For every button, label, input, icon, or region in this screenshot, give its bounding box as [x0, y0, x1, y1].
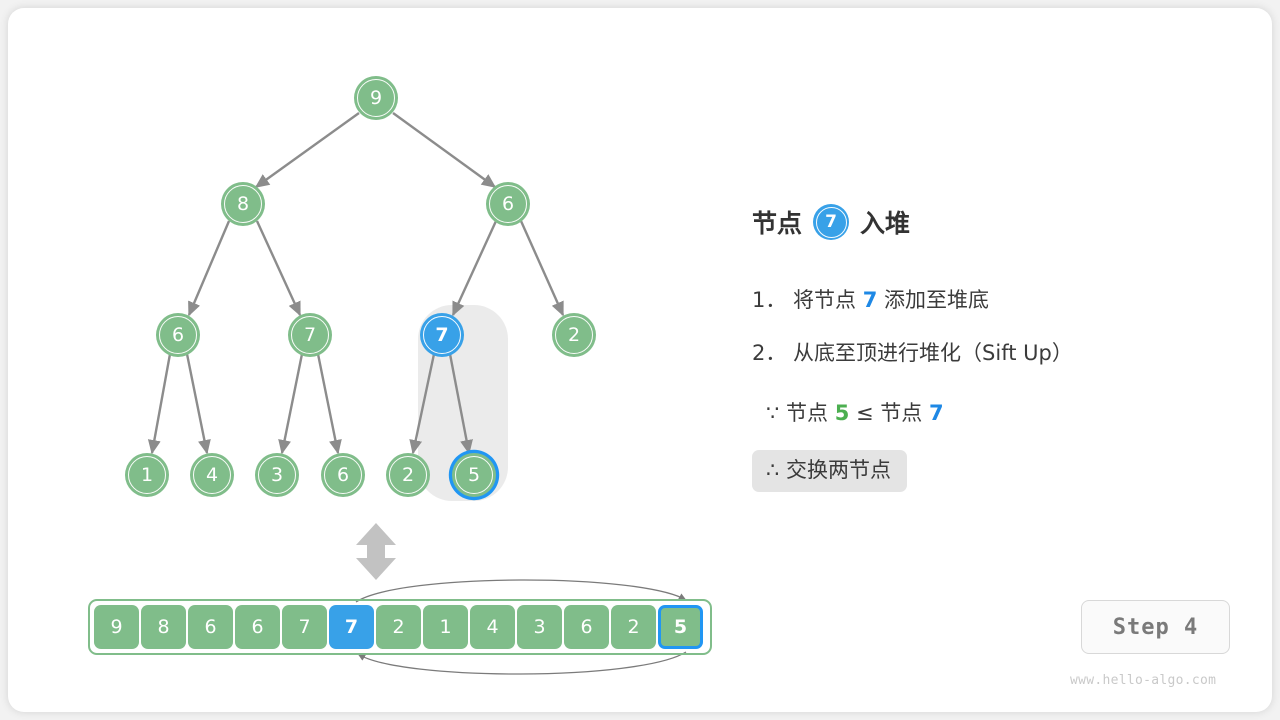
tree-node-l1-right[interactable]: 6: [486, 182, 530, 226]
step-1-after: 添加至堆底: [877, 288, 989, 312]
tree-node-l3-c[interactable]: 3: [255, 453, 299, 497]
array-cell[interactable]: 2: [611, 605, 656, 649]
panel-title: 节点 7 入堆: [752, 200, 1222, 244]
tree-node-l3-b[interactable]: 4: [190, 453, 234, 497]
step-badge-label: Step 4: [1113, 615, 1198, 640]
node-value: 9: [370, 89, 382, 108]
reason-right-value: 7: [929, 401, 944, 425]
step-2-text: 2． 从底至顶进行堆化（Sift Up）: [752, 343, 1073, 364]
array-cell[interactable]: 1: [423, 605, 468, 649]
array-cell[interactable]: 6: [235, 605, 280, 649]
panel-title-prefix: 节点: [752, 204, 802, 240]
step-1-before: 1． 将节点: [752, 288, 863, 312]
conclusion-text: ∴ 交换两节点: [766, 460, 891, 481]
tree-node-l3-d[interactable]: 6: [321, 453, 365, 497]
node-value: 7: [304, 326, 316, 345]
node-value: 6: [337, 466, 349, 485]
tree-node-l3-a[interactable]: 1: [125, 453, 169, 497]
array-cell[interactable]: 9: [94, 605, 139, 649]
explanation-panel: 节点 7 入堆 1． 将节点 7 添加至堆底 2． 从底至顶进行堆化（Sift …: [752, 200, 1222, 244]
tree-node-l2-d[interactable]: 2: [552, 313, 596, 357]
reason-middle: ≤ 节点: [849, 401, 929, 425]
array-representation: 9 8 6 6 7 7 2 1 4 3 6 2 5: [88, 599, 712, 655]
illustration-canvas: 9 8 6 6 7 7 2 1 4 3 6 2: [0, 0, 1280, 720]
tree-node-l3-e[interactable]: 2: [386, 453, 430, 497]
node-value: 6: [172, 326, 184, 345]
array-cell-swap-target[interactable]: 5: [658, 605, 703, 649]
node-value: 7: [435, 326, 448, 345]
reason-left-value: 5: [835, 401, 850, 425]
array-cell[interactable]: 3: [517, 605, 562, 649]
watermark: www.hello-algo.com: [1070, 673, 1216, 688]
node-value: 5: [468, 466, 480, 485]
step-1-text: 1． 将节点 7 添加至堆底: [752, 290, 989, 311]
array-cell-inserted[interactable]: 7: [329, 605, 374, 649]
node-value: 8: [237, 195, 249, 214]
conclusion-highlight: ∴ 交换两节点: [752, 450, 907, 492]
array-cell[interactable]: 6: [564, 605, 609, 649]
tree-node-l2-b[interactable]: 7: [288, 313, 332, 357]
panel-title-suffix: 入堆: [860, 204, 910, 240]
tree-node-inserted[interactable]: 7: [420, 313, 464, 357]
panel-title-badge: 7: [813, 204, 849, 240]
node-value: 2: [568, 326, 580, 345]
step-badge: Step 4: [1081, 600, 1230, 654]
tree-node-l2-a[interactable]: 6: [156, 313, 200, 357]
node-value: 1: [141, 466, 153, 485]
array-cell[interactable]: 4: [470, 605, 515, 649]
step-1-value: 7: [863, 288, 878, 312]
array-cell[interactable]: 2: [376, 605, 421, 649]
node-value: 4: [206, 466, 218, 485]
node-value: 3: [271, 466, 283, 485]
node-value: 2: [402, 466, 414, 485]
badge-inner-ring: [816, 207, 847, 238]
reason-comparison: ∵ 节点 5 ≤ 节点 7: [766, 403, 944, 424]
tree-node-root[interactable]: 9: [354, 76, 398, 120]
tree-node-swap-target[interactable]: 5: [452, 453, 496, 497]
array-cell[interactable]: 8: [141, 605, 186, 649]
array-cell[interactable]: 6: [188, 605, 233, 649]
tree-node-l1-left[interactable]: 8: [221, 182, 265, 226]
node-value: 6: [502, 195, 514, 214]
array-cell[interactable]: 7: [282, 605, 327, 649]
reason-before: ∵ 节点: [766, 401, 835, 425]
